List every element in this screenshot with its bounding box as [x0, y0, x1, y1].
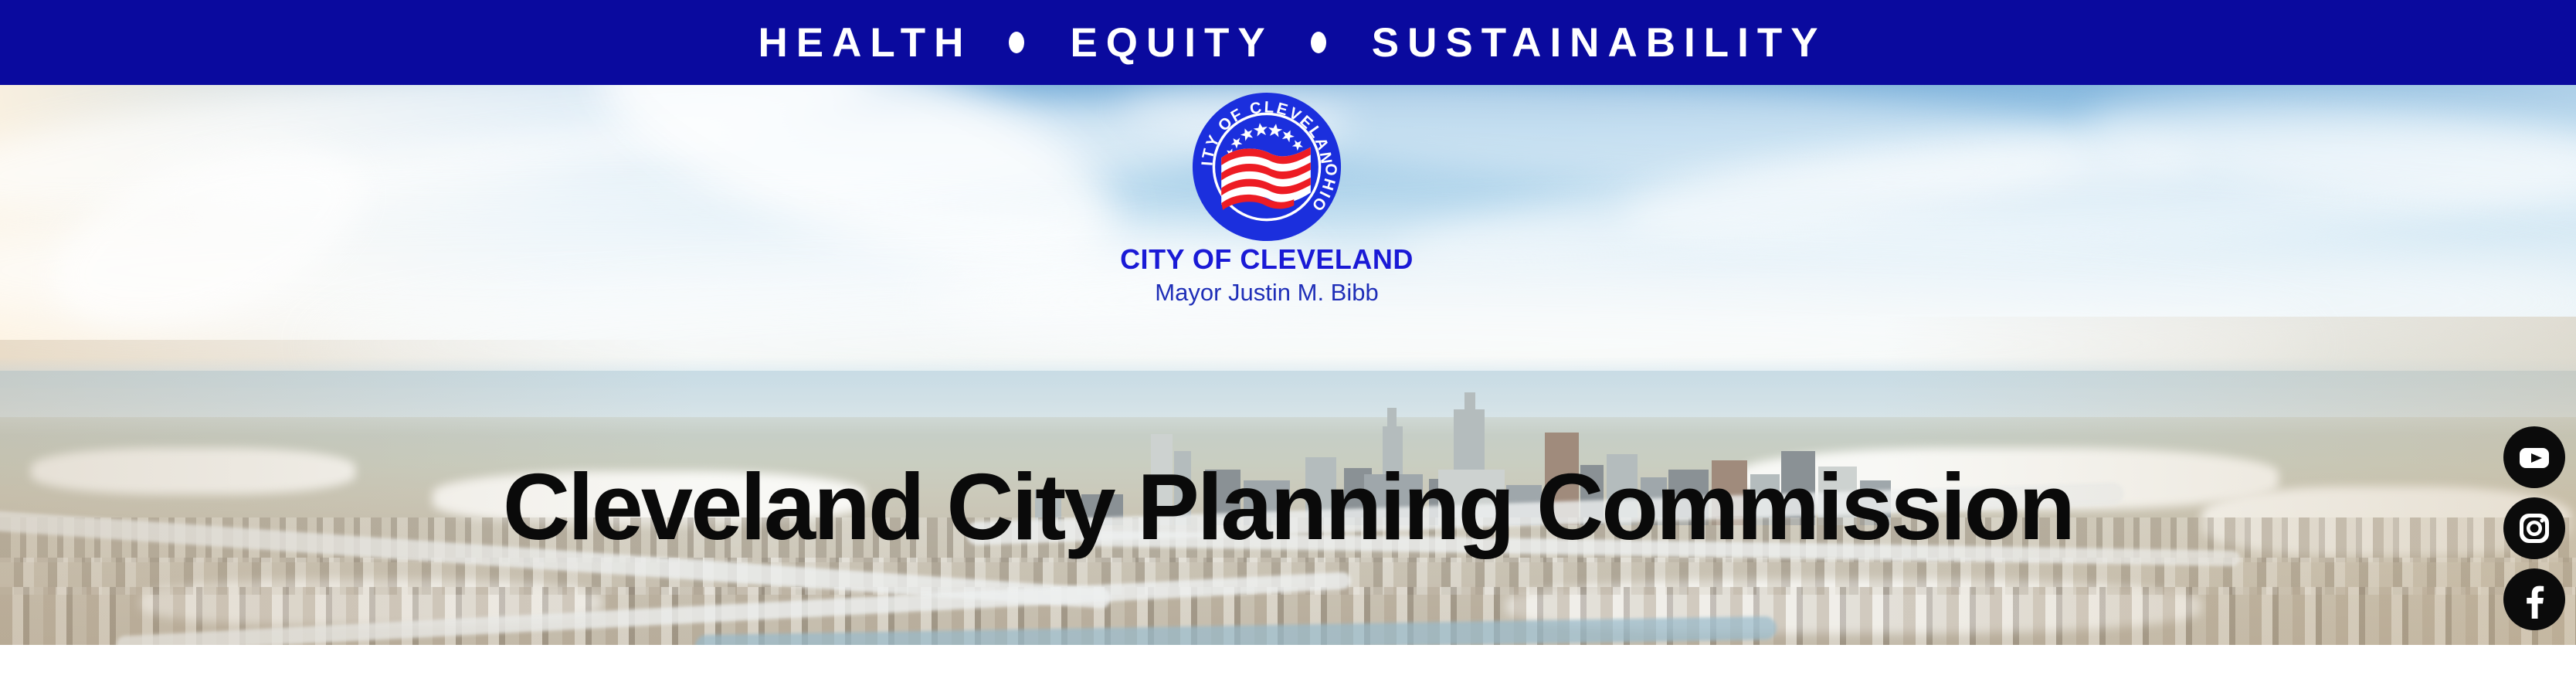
instagram-glyph [2515, 509, 2554, 548]
city-seal-svg: CITY OF CLEVELAND OHIO [1191, 91, 1342, 243]
tagline-separator-dot-1 [1009, 32, 1024, 53]
mayor-name: Mayor Justin M. Bibb [1066, 280, 1468, 304]
header-banner-page: HEALTH EQUITY SUSTAINABILITY [0, 0, 2576, 682]
facebook-glyph [2515, 580, 2554, 619]
tagline-banner-inner: HEALTH EQUITY SUSTAINABILITY [749, 22, 1826, 63]
youtube-icon[interactable] [2503, 426, 2565, 488]
city-logo-caption: CITY OF CLEVELAND [1066, 246, 1468, 273]
city-logo-block: CITY OF CLEVELAND OHIO [1066, 91, 1468, 253]
bottom-white-strip [0, 645, 2576, 682]
instagram-icon[interactable] [2503, 497, 2565, 559]
tagline-word-equity: EQUITY [1061, 22, 1273, 63]
city-seal-icon: CITY OF CLEVELAND OHIO [1191, 91, 1342, 243]
facebook-icon[interactable] [2503, 568, 2565, 630]
tagline-word-health: HEALTH [749, 22, 972, 63]
tagline-word-sustainability: SUSTAINABILITY [1363, 22, 1827, 63]
social-links [2500, 426, 2568, 630]
youtube-glyph-shape [2515, 438, 2554, 477]
tagline-separator-dot-2 [1311, 32, 1326, 53]
page-title: Cleveland City Planning Commission [13, 460, 2564, 554]
tagline-banner: HEALTH EQUITY SUSTAINABILITY [0, 0, 2576, 85]
